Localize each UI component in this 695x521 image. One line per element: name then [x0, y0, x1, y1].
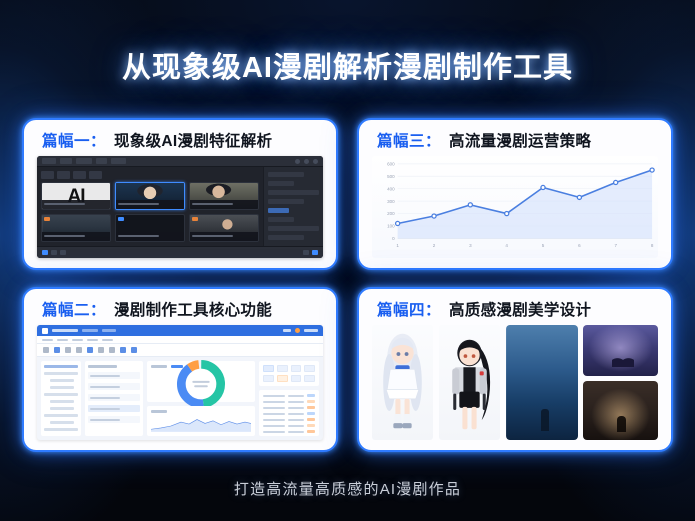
window-dot-icon — [304, 159, 309, 164]
character-art-gallery — [372, 325, 658, 440]
toolbar-icon — [120, 347, 126, 353]
card-1-body: AI — [24, 156, 336, 268]
dashboard-main-panel — [147, 361, 255, 436]
svg-text:100: 100 — [387, 224, 395, 229]
dashboard-list-panel — [85, 361, 143, 436]
status-badge — [307, 394, 315, 397]
sidebar-item — [44, 428, 78, 431]
media-thumbnail: AI — [41, 182, 111, 210]
shortcut-tile — [291, 365, 302, 372]
dashboard-menubar — [37, 336, 323, 344]
property-row — [268, 235, 304, 240]
editor-tab — [96, 158, 107, 164]
media-thumbnail-selected — [115, 182, 185, 210]
status-badge — [307, 400, 315, 403]
table-row — [263, 424, 315, 427]
list-item — [88, 394, 140, 401]
sidebar-subitem — [50, 400, 74, 403]
sidebar-item — [44, 414, 78, 417]
list-item — [88, 383, 140, 390]
thumbnail-caption — [116, 232, 184, 241]
title-container: 从现象级AI漫剧解析漫剧制作工具 — [0, 44, 695, 86]
list-item-selected — [88, 405, 140, 412]
status-badge — [307, 430, 315, 433]
svg-text:2: 2 — [433, 243, 436, 248]
window-dot-icon — [313, 159, 318, 164]
media-thumbnail — [189, 182, 259, 210]
editor-media-panel: AI — [37, 167, 263, 246]
shortcut-tile — [277, 375, 288, 382]
thumbnail-badge — [192, 217, 198, 221]
card-2-title: 漫剧制作工具核心功能 — [114, 298, 272, 320]
shortcut-tile — [263, 365, 274, 372]
menu-item — [57, 339, 68, 341]
topbar-breadcrumb — [82, 329, 98, 332]
sidebar-subitem — [50, 421, 74, 424]
card-4-header: 篇幅四： 高质感漫剧美学设计 — [359, 289, 671, 325]
property-row — [268, 199, 304, 204]
property-row — [268, 181, 294, 186]
editor-properties-panel — [263, 167, 323, 246]
toolbar-button — [89, 171, 102, 179]
shortcut-tile — [263, 375, 274, 382]
card-4-badge: 篇幅四： — [377, 298, 441, 320]
status-chip — [60, 250, 66, 255]
card-pian-fu-san[interactable]: 篇幅三： 高流量漫剧运营策略 0100200300400500600 12345… — [357, 118, 673, 270]
app-logo-icon — [42, 328, 48, 334]
thumbnail-caption — [190, 232, 258, 241]
toolbar-button — [57, 171, 70, 179]
dashboard-body — [37, 357, 323, 440]
toolbar-icon — [43, 347, 49, 353]
svg-text:0: 0 — [392, 236, 395, 241]
editor-tab — [42, 158, 56, 164]
shortcut-grid — [259, 361, 319, 386]
line-chart-container: 0100200300400500600 12345678 — [372, 156, 658, 258]
editor-tab — [60, 158, 72, 164]
card-1-badge: 篇幅一： — [42, 129, 106, 151]
slide-canvas: 从现象级AI漫剧解析漫剧制作工具 篇幅一： 现象级AI漫剧特征解析 — [0, 0, 695, 521]
table-row — [263, 406, 315, 409]
scene-image-group — [506, 325, 658, 440]
shortcut-tile — [304, 365, 315, 372]
card-2-body — [24, 325, 336, 450]
toolbar-button — [73, 171, 86, 179]
line-chart: 0100200300400500600 12345678 — [372, 156, 658, 258]
blue-city-scene-image — [506, 325, 578, 440]
shortcut-tile — [291, 375, 302, 382]
donut-chart — [175, 358, 227, 410]
purple-silhouette-scene-image — [583, 325, 658, 376]
table-row — [263, 400, 315, 403]
topbar-action — [283, 329, 291, 332]
shortcut-tile — [277, 365, 288, 372]
status-badge — [307, 418, 315, 421]
editor-statusbar — [37, 246, 323, 258]
chart-area-fill — [398, 170, 652, 238]
card-2-header: 篇幅二： 漫剧制作工具核心功能 — [24, 289, 336, 325]
sidebar-item — [44, 372, 78, 375]
area-card-header — [151, 410, 251, 413]
topbar-breadcrumb — [102, 329, 116, 332]
toolbar-icon — [98, 347, 104, 353]
svg-text:200: 200 — [387, 211, 395, 216]
status-chip — [51, 250, 57, 255]
menu-item — [87, 339, 98, 341]
play-icon — [42, 250, 48, 255]
card-2-badge: 篇幅二： — [42, 298, 106, 320]
card-3-body: 0100200300400500600 12345678 — [359, 156, 671, 268]
svg-text:4: 4 — [505, 243, 508, 248]
list-item — [88, 372, 140, 379]
card-3-header: 篇幅三： 高流量漫剧运营策略 — [359, 120, 671, 156]
thumbnail-caption — [42, 200, 110, 209]
editor-toolbar — [41, 171, 259, 179]
property-row — [268, 217, 294, 222]
property-row — [268, 226, 319, 231]
sidebar-subitem — [50, 386, 74, 389]
svg-text:300: 300 — [387, 199, 395, 204]
sidebar-subitem — [50, 379, 74, 382]
admin-dashboard-screenshot — [37, 325, 323, 440]
topbar-title — [52, 329, 78, 332]
dashboard-topbar — [37, 325, 323, 336]
shortcut-tile — [304, 375, 315, 382]
table-row — [263, 412, 315, 415]
sidebar-item — [44, 393, 78, 396]
mini-area-chart — [151, 415, 251, 432]
card-1-header: 篇幅一： 现象级AI漫剧特征解析 — [24, 120, 336, 156]
thumbnail-caption — [42, 232, 110, 241]
status-badge — [307, 406, 315, 409]
editor-topbar — [37, 156, 323, 167]
character-illustration-2 — [439, 325, 500, 440]
sidebar-subitem — [50, 407, 74, 410]
editor-main: AI — [37, 167, 323, 246]
black-haired-character-art — [439, 325, 500, 440]
svg-text:6: 6 — [578, 243, 581, 248]
donut-chart-wrap — [151, 370, 251, 398]
activity-table — [259, 390, 319, 436]
property-row-active — [268, 208, 289, 213]
toolbar-button — [41, 171, 54, 179]
chart-y-axis-labels: 0100200300400500600 — [387, 162, 395, 242]
scene-stack — [583, 325, 658, 440]
chart-x-axis-labels: 12345678 — [396, 243, 653, 248]
card-title-bar — [151, 365, 167, 368]
thumbnail-badge — [118, 217, 124, 221]
card-1-title: 现象级AI漫剧特征解析 — [114, 129, 272, 151]
property-row — [268, 190, 319, 195]
svg-text:7: 7 — [614, 243, 617, 248]
avatar — [295, 328, 300, 333]
dashboard-toolbar — [37, 344, 323, 357]
media-thumbnail — [115, 214, 185, 242]
page-title: 从现象级AI漫剧解析漫剧制作工具 — [122, 44, 573, 86]
media-thumbnail — [189, 214, 259, 242]
property-row — [268, 172, 304, 177]
card-3-title: 高流量漫剧运营策略 — [449, 129, 591, 151]
status-badge — [307, 412, 315, 415]
toolbar-icon — [87, 347, 93, 353]
table-row — [263, 418, 315, 421]
card-pian-fu-si[interactable]: 篇幅四： 高质感漫剧美学设计 — [357, 287, 673, 452]
svg-text:5: 5 — [542, 243, 545, 248]
table-header-row — [263, 394, 315, 397]
footer-tagline: 打造高流量高质感的AI漫剧作品 — [0, 478, 695, 499]
svg-text:400: 400 — [387, 186, 395, 191]
menu-item — [72, 339, 83, 341]
list-panel-title — [88, 365, 117, 368]
card-pian-fu-er[interactable]: 篇幅二： 漫剧制作工具核心功能 — [22, 287, 338, 452]
topbar-username — [304, 329, 318, 332]
status-chip — [303, 250, 309, 255]
video-editor-screenshot: AI — [37, 156, 323, 258]
list-item — [88, 416, 140, 423]
menu-item — [102, 339, 113, 341]
sidebar-item — [44, 365, 78, 368]
dashboard-sidebar — [41, 361, 81, 436]
white-haired-character-art — [372, 325, 433, 440]
thumbnail-badge — [44, 217, 50, 221]
svg-text:3: 3 — [469, 243, 472, 248]
window-dot-icon — [295, 159, 300, 164]
thumbnail-caption — [116, 200, 184, 209]
donut-chart-card — [147, 361, 255, 402]
editor-tab — [76, 158, 92, 164]
editor-tab — [111, 158, 126, 164]
svg-text:600: 600 — [387, 162, 395, 167]
card-3-badge: 篇幅三： — [377, 129, 441, 151]
thumbnail-caption — [190, 200, 258, 209]
card-pian-fu-yi[interactable]: 篇幅一： 现象级AI漫剧特征解析 — [22, 118, 338, 270]
status-badge — [307, 424, 315, 427]
card-title-bar — [151, 410, 167, 413]
toolbar-icon — [76, 347, 82, 353]
svg-text:8: 8 — [651, 243, 654, 248]
toolbar-icon — [131, 347, 137, 353]
warm-corridor-scene-image — [583, 381, 658, 440]
media-thumbnail-grid: AI — [41, 182, 259, 242]
status-chip-active — [312, 250, 318, 255]
table-row — [263, 430, 315, 433]
character-illustration-1 — [372, 325, 433, 440]
toolbar-icon — [65, 347, 71, 353]
svg-text:500: 500 — [387, 174, 395, 179]
area-chart-card — [147, 406, 255, 436]
card-4-title: 高质感漫剧美学设计 — [449, 298, 591, 320]
toolbar-icon — [109, 347, 115, 353]
media-thumbnail — [41, 214, 111, 242]
dashboard-right-panel — [259, 361, 319, 436]
card-4-body — [359, 325, 671, 450]
svg-text:1: 1 — [396, 243, 399, 248]
toolbar-icon — [54, 347, 60, 353]
menu-item — [42, 339, 53, 341]
